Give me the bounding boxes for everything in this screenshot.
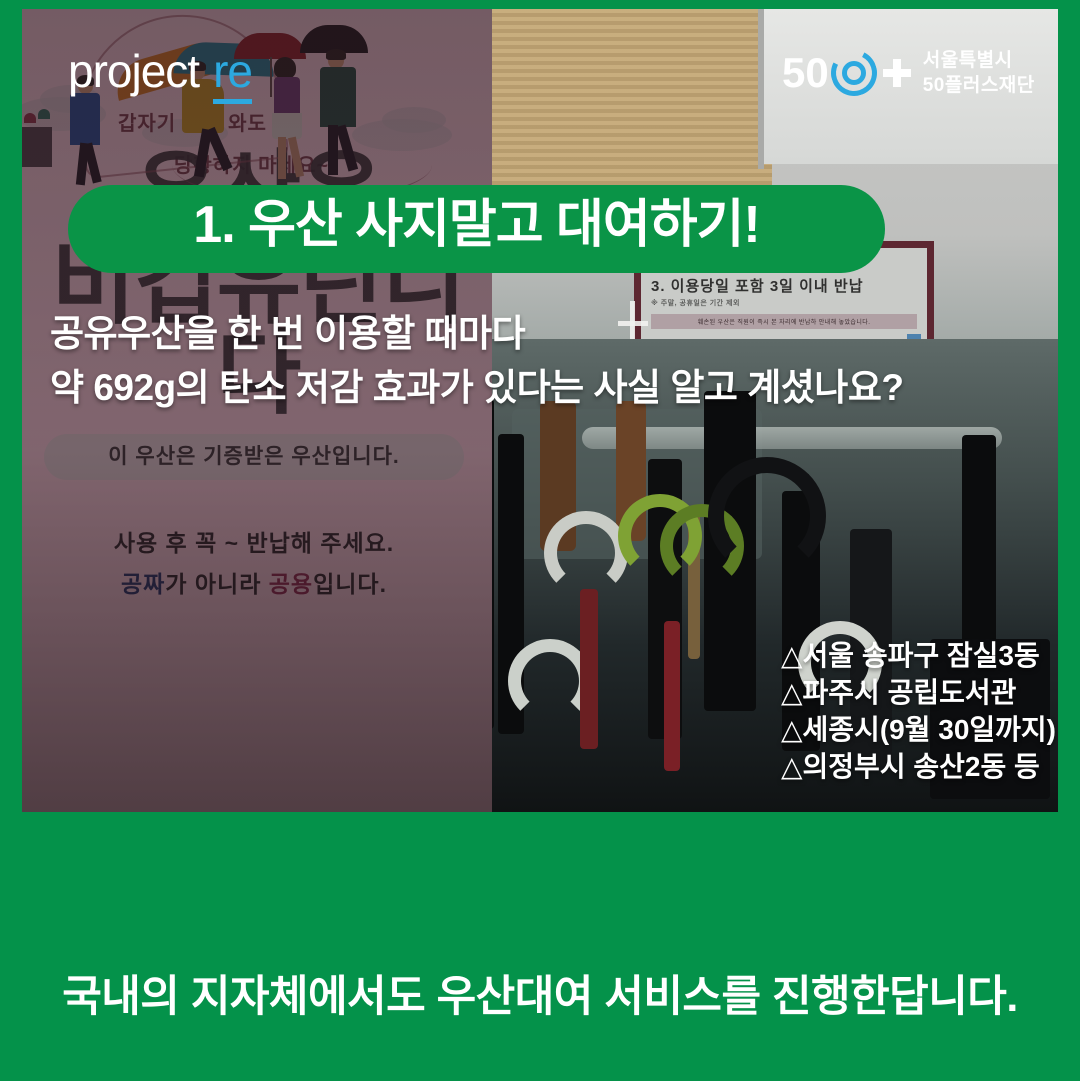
fifty-number: 50 [782, 52, 829, 94]
umbrella-crook-white [544, 511, 628, 595]
umbrella-crook-black [708, 457, 826, 575]
wall-sign-note: ※ 주말, 공휴일은 기간 제외 [651, 298, 917, 308]
umbrella-body-red [664, 621, 680, 771]
body-line-1: 공유우산을 한 번 이용할 때마다 [50, 307, 903, 361]
umbrella-body [962, 435, 996, 665]
list-item: △세종시(9월 30일까지) [781, 712, 1056, 749]
target-ring-icon [831, 50, 877, 96]
partner-logo-text: 서울특별시 50플러스재단 [923, 48, 1035, 98]
caption-band: 국내의 지자체에서도 우산대여 서비스를 진행한답니다. [0, 812, 1080, 1081]
body-text: 공유우산을 한 번 이용할 때마다 약 692g의 탄소 저감 효과가 있다는 … [50, 307, 903, 415]
wall-panel-edge [758, 9, 764, 169]
partner-logo-line-2: 50플러스재단 [923, 73, 1035, 98]
brand-name-accent: re [213, 45, 252, 104]
headline-text: 1. 우산 사지말고 대여하기! [68, 175, 885, 263]
location-list: △서울 송파구 잠실3동 △파주시 공립도서관 △세종시(9월 30일까지) △… [781, 638, 1056, 786]
list-item: △파주시 공립도서관 [781, 675, 1056, 712]
infographic-card: 2. 신청대장 작성 3. 이용당일 포함 3일 이내 반납 ※ 주말, 공휴일… [0, 0, 1080, 1081]
caption-text: 국내의 지자체에서도 우산대여 서비스를 진행한답니다. [62, 962, 1018, 1024]
plus-icon [883, 59, 911, 87]
partner-logo-line-1: 서울특별시 [923, 48, 1035, 73]
wall-sign-line-3: 3. 이용당일 포함 3일 이내 반납 [651, 276, 917, 298]
brand-logo: projectre [68, 48, 252, 94]
list-item: △서울 송파구 잠실3동 [781, 638, 1056, 675]
fifty-plus-mark: 50 [782, 50, 911, 96]
body-line-2: 약 692g의 탄소 저감 효과가 있다는 사실 알고 계셨나요? [50, 361, 903, 415]
list-item: △의정부시 송산2동 등 [781, 749, 1056, 786]
brand-name-main: project [68, 45, 199, 97]
partner-logo-50plus: 50 서울특별시 50플러스재단 [782, 48, 1035, 98]
umbrella-body-red [580, 589, 598, 749]
